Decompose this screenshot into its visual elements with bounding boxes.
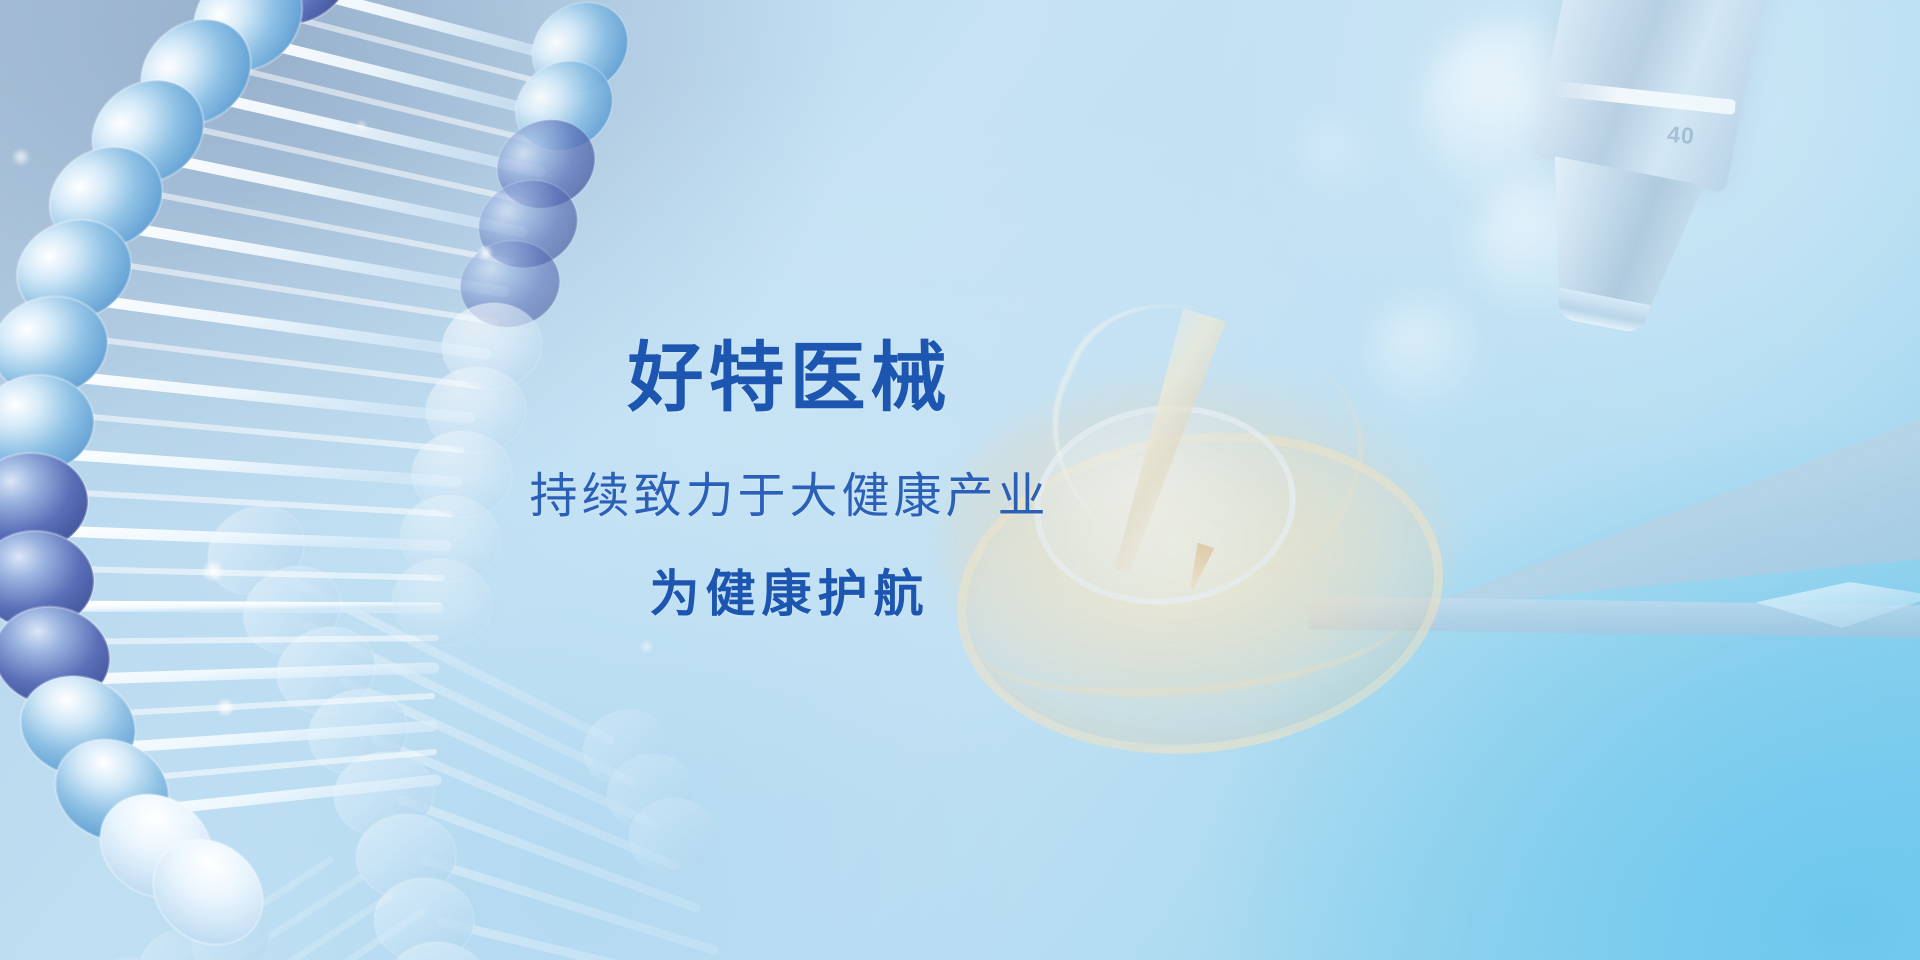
hero-copy: 好特医械 持续致力于大健康产业 为健康护航 xyxy=(0,0,1575,960)
hero-subtitle: 持续致力于大健康产业 xyxy=(529,473,1049,521)
microscope-magnification-label: 40 xyxy=(1666,121,1696,150)
hero-banner: 40 xyxy=(0,0,1920,960)
page-title: 好特医械 xyxy=(628,341,952,421)
hero-tagline: 为健康护航 xyxy=(650,569,930,619)
